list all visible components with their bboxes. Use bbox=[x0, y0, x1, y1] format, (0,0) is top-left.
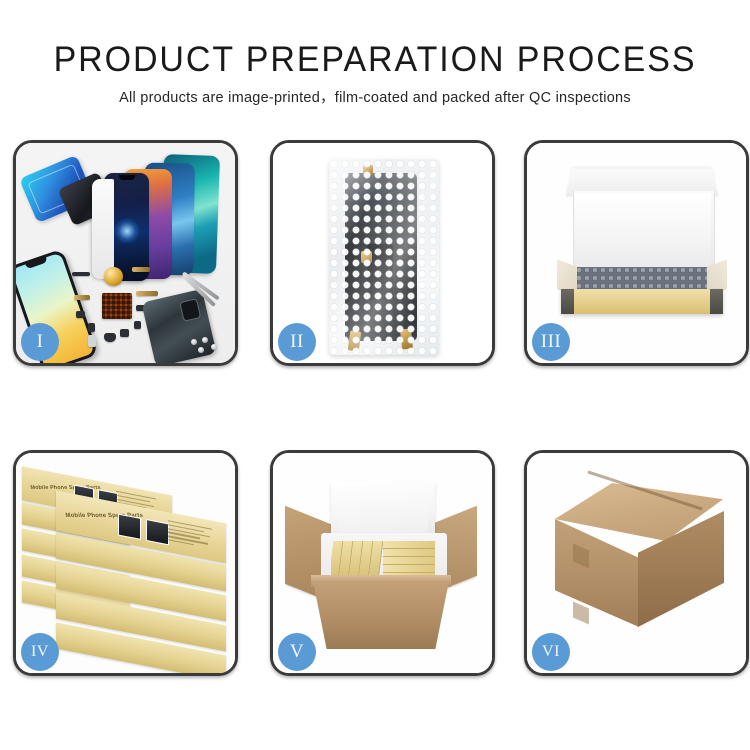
process-step-grid: I II bbox=[13, 140, 745, 676]
small-part-6 bbox=[120, 329, 129, 337]
small-part-2 bbox=[76, 311, 85, 318]
flex-cable-1 bbox=[132, 267, 150, 272]
box-front-corner-right bbox=[710, 289, 723, 314]
box-text-lines-front bbox=[168, 520, 212, 551]
box-window-front-2 bbox=[146, 519, 169, 545]
process-step-5[interactable]: V bbox=[270, 450, 495, 676]
bubble-wrap-bag bbox=[329, 159, 439, 355]
small-part-5 bbox=[134, 321, 141, 329]
header: PRODUCT PREPARATION PROCESS All products… bbox=[0, 40, 750, 108]
flex-cable-2 bbox=[136, 291, 158, 296]
step-badge-2: II bbox=[278, 323, 316, 361]
carton-body bbox=[313, 581, 449, 649]
foam-lid bbox=[331, 481, 435, 539]
screws-group bbox=[191, 337, 225, 353]
flex-cable-3 bbox=[74, 295, 90, 300]
process-step-1[interactable]: I bbox=[13, 140, 238, 366]
step-badge-5: V bbox=[278, 633, 316, 671]
carton-left-face bbox=[555, 519, 639, 627]
vibration-motor-part bbox=[104, 267, 123, 286]
step-badge-6: VI bbox=[532, 633, 570, 671]
step-badge-4: IV bbox=[21, 633, 59, 671]
box-front-corner-left bbox=[561, 289, 574, 314]
carton-tape-lower bbox=[573, 601, 589, 624]
page-subtitle: All products are image-printed，film-coat… bbox=[0, 88, 750, 108]
foam-sheet bbox=[575, 193, 711, 267]
chip-grid-part bbox=[102, 293, 132, 319]
earpiece-part bbox=[104, 333, 116, 342]
phone-notch-icon bbox=[119, 175, 135, 180]
process-step-4[interactable]: Mobile Phone Spare Parts bbox=[13, 450, 238, 676]
product-preparation-process-page: PRODUCT PREPARATION PROCESS All products… bbox=[0, 0, 750, 750]
small-part-1 bbox=[72, 272, 90, 276]
page-title: PRODUCT PREPARATION PROCESS bbox=[11, 40, 739, 80]
step-badge-1: I bbox=[21, 323, 59, 361]
bag-sheen bbox=[329, 159, 439, 355]
process-step-6[interactable]: VI bbox=[524, 450, 749, 676]
small-part-3 bbox=[88, 323, 95, 332]
box-front-kraft bbox=[561, 289, 723, 314]
box-window-front-1 bbox=[118, 514, 141, 540]
tweezers-icon bbox=[183, 271, 229, 315]
screen-glass-panel bbox=[92, 179, 114, 279]
sim-tray-part bbox=[88, 335, 96, 347]
process-step-2[interactable]: II bbox=[270, 140, 495, 366]
step-badge-3: III bbox=[532, 323, 570, 361]
process-step-3[interactable]: III bbox=[524, 140, 749, 366]
